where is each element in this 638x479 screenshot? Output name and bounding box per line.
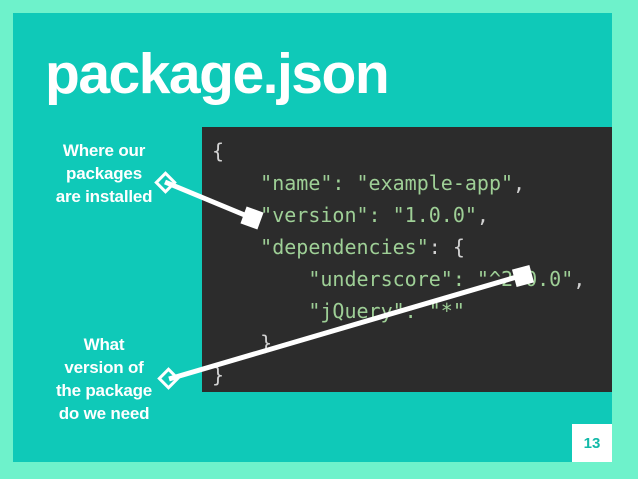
code-line: "jQuery": "*" xyxy=(212,295,585,327)
code-line: { xyxy=(212,135,585,167)
code-string-token: "underscore": "^2.0.0" xyxy=(308,267,573,291)
callout-where-packages-installed: Where ourpackagesare installed xyxy=(19,139,189,208)
callout-line: are installed xyxy=(19,185,189,208)
code-punctuation-token: , xyxy=(513,171,525,195)
code-punctuation-token: { xyxy=(212,139,224,163)
code-block: { "name": "example-app", "version": "1.0… xyxy=(202,127,612,392)
callout-line: What xyxy=(19,333,189,356)
code-line: } xyxy=(212,359,585,391)
code-string-token: "version": "1.0.0" xyxy=(260,203,477,227)
code-string-token: "name": "example-app" xyxy=(260,171,513,195)
code-line: "dependencies": { xyxy=(212,231,585,263)
code-string-token: "jQuery": "*" xyxy=(308,299,465,323)
callout-line: the package xyxy=(19,379,189,402)
callout-line: packages xyxy=(19,162,189,185)
code-punctuation-token: } xyxy=(212,363,224,387)
code-line: } xyxy=(212,327,585,359)
code-line: "name": "example-app", xyxy=(212,167,585,199)
callout-line: version of xyxy=(19,356,189,379)
code-block-content: { "name": "example-app", "version": "1.0… xyxy=(212,135,585,391)
code-line: "underscore": "^2.0.0", xyxy=(212,263,585,295)
code-string-token: "dependencies" xyxy=(260,235,429,259)
page-title: package.json xyxy=(45,43,388,105)
callout-line: do we need xyxy=(19,402,189,425)
callout-what-version-needed: Whatversion ofthe packagedo we need xyxy=(19,333,189,425)
code-line: "version": "1.0.0", xyxy=(212,199,585,231)
code-punctuation-token: : { xyxy=(429,235,465,259)
code-punctuation-token: , xyxy=(573,267,585,291)
slide-canvas: package.json { "name": "example-app", "v… xyxy=(0,0,638,479)
page-number-badge: 13 xyxy=(572,424,612,462)
slide-stage: package.json { "name": "example-app", "v… xyxy=(13,13,612,462)
callout-line: Where our xyxy=(19,139,189,162)
code-punctuation-token: , xyxy=(477,203,489,227)
page-number-label: 13 xyxy=(584,435,601,452)
code-punctuation-token: } xyxy=(260,331,272,355)
